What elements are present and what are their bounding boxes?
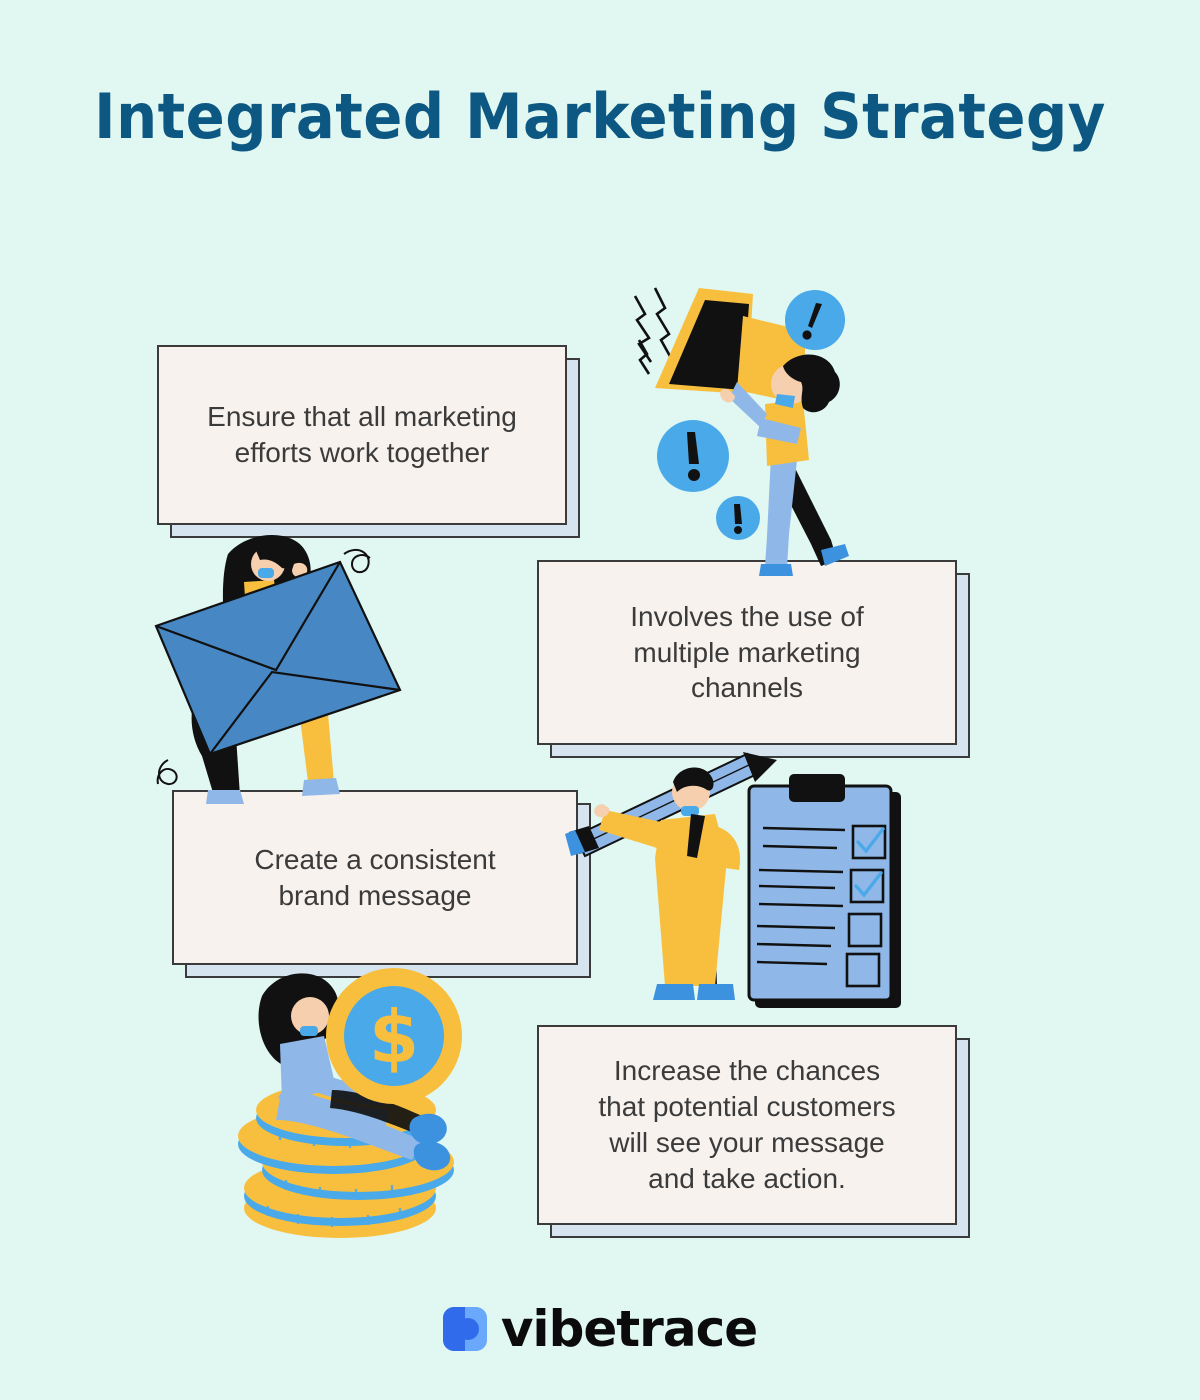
person-figure: [720, 355, 849, 576]
card-text-1: Ensure that all marketing efforts work t…: [185, 399, 539, 471]
woman-carrying-envelope-illustration: [148, 522, 413, 817]
vibetrace-logo-mark-icon: [443, 1307, 487, 1351]
man-with-pencil-and-checklist-illustration: [565, 748, 905, 1023]
sound-lines-icon: [635, 288, 671, 374]
statement-card-4: Increase the chances that potential cust…: [537, 1025, 957, 1225]
clipboard-icon: [749, 774, 901, 1008]
statement-card-2: Involves the use of multiple marketing c…: [537, 560, 957, 745]
card-body-2: Involves the use of multiple marketing c…: [537, 560, 957, 745]
svg-text:$: $: [369, 995, 419, 1079]
page-title: Integrated Marketing Strategy: [42, 82, 1158, 151]
card-body-1: Ensure that all marketing efforts work t…: [157, 345, 567, 525]
statement-card-1: Ensure that all marketing efforts work t…: [157, 345, 567, 525]
exclamation-badge-1: [785, 290, 845, 350]
woman-with-megaphone-illustration: [625, 278, 885, 578]
woman-sitting-on-coins-illustration: $: [228, 958, 528, 1243]
dollar-coin-icon: $: [326, 968, 462, 1104]
card-body-4: Increase the chances that potential cust…: [537, 1025, 957, 1225]
exclamation-badge-3: [716, 496, 760, 540]
card-text-4: Increase the chances that potential cust…: [576, 1053, 917, 1196]
card-text-3: Create a consistent brand message: [232, 842, 517, 914]
exclamation-badge-2: [657, 420, 729, 492]
infographic-canvas: Integrated Marketing Strategy Ensure tha…: [0, 0, 1200, 1400]
footer-logo: vibetrace: [0, 1300, 1200, 1358]
card-text-2: Involves the use of multiple marketing c…: [608, 599, 885, 706]
vibetrace-logo-text: vibetrace: [501, 1300, 757, 1358]
